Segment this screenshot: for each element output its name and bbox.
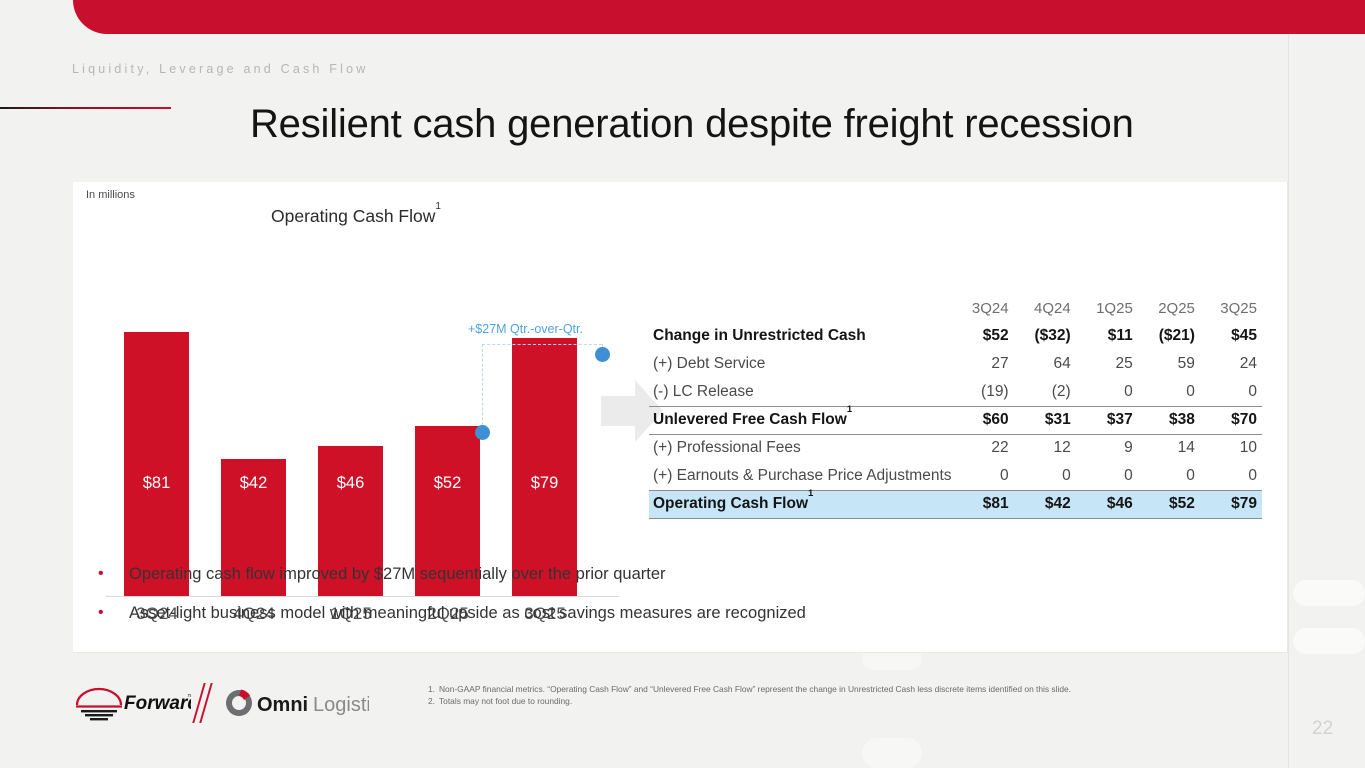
forward-logo-icon: Forward ™ — [73, 683, 191, 723]
table-body: Change in Unrestricted Cash$52($32)$11($… — [649, 322, 1262, 518]
table-row-label: (+) Professional Fees — [649, 434, 952, 462]
table-cell: 24 — [1200, 350, 1262, 378]
bar-value-label: $46 — [318, 474, 383, 493]
table-cell: 59 — [1138, 350, 1200, 378]
list-item: • Asset-light business model with meanin… — [98, 604, 1098, 623]
cash-flow-table: 3Q24 4Q24 1Q25 2Q25 3Q25 Change in Unres… — [649, 294, 1262, 519]
watermark-shape — [1293, 628, 1365, 654]
table-cell: $52 — [952, 322, 1014, 350]
callout-label: +$27M Qtr.-over-Qtr. — [468, 322, 583, 336]
table-col-0: 3Q24 — [952, 294, 1014, 322]
footnote-text: Totals may not foot due to rounding. — [439, 695, 572, 707]
footnote-row: 1. Non-GAAP financial metrics. “Operatin… — [428, 683, 1218, 695]
right-vertical-rule — [1288, 0, 1289, 768]
content-card: In millions Operating Cash Flow1 $81$42$… — [73, 182, 1288, 653]
table-col-1: 4Q24 — [1014, 294, 1076, 322]
table-cell: 0 — [1076, 378, 1138, 406]
bar-value-label: $42 — [221, 474, 286, 493]
table-cell: $79 — [1200, 490, 1262, 518]
svg-text:Omni: Omni — [257, 694, 308, 716]
footnotes: 1. Non-GAAP financial metrics. “Operatin… — [428, 683, 1218, 707]
bar-value-label: $81 — [124, 474, 189, 493]
table-col-4: 3Q25 — [1200, 294, 1262, 322]
table-cell: 0 — [1138, 378, 1200, 406]
callout-dot-2q25 — [475, 425, 490, 440]
row-footnote-marker: 1 — [847, 404, 852, 415]
page-title: Resilient cash generation despite freigh… — [250, 102, 1250, 147]
callout-bracket-left — [482, 344, 483, 430]
table-cell: 25 — [1076, 350, 1138, 378]
table-cell: $52 — [1138, 490, 1200, 518]
table-cell: $11 — [1076, 322, 1138, 350]
table-cell: 14 — [1138, 434, 1200, 462]
table-cell: 0 — [952, 462, 1014, 490]
table-cell: $60 — [952, 406, 1014, 434]
row-footnote-marker: 1 — [808, 488, 813, 499]
units-note: In millions — [86, 189, 135, 201]
footnote-number: 1. — [428, 683, 439, 695]
section-eyebrow: Liquidity, Leverage and Cash Flow — [72, 62, 368, 76]
table-row-label: Unlevered Free Cash Flow1 — [649, 406, 952, 434]
slide-canvas: Liquidity, Leverage and Cash Flow Resili… — [0, 0, 1365, 768]
table-cell: $37 — [1076, 406, 1138, 434]
table-row: (+) Debt Service2764255924 — [649, 350, 1262, 378]
table-cell: $38 — [1138, 406, 1200, 434]
bullet-text: Operating cash flow improved by $27M seq… — [129, 565, 666, 583]
table-col-3: 2Q25 — [1138, 294, 1200, 322]
bullet-marker-icon: • — [98, 604, 104, 622]
table-row: Change in Unrestricted Cash$52($32)$11($… — [649, 322, 1262, 350]
table-cell: (2) — [1014, 378, 1076, 406]
table-row-label: (+) Debt Service — [649, 350, 952, 378]
table-cell: $45 — [1200, 322, 1262, 350]
bar-3q25: $79 — [512, 338, 577, 596]
table-cell: $31 — [1014, 406, 1076, 434]
table-cell: 0 — [1014, 462, 1076, 490]
table-cell: 0 — [1076, 462, 1138, 490]
accent-rule — [0, 107, 171, 109]
table-cell: $70 — [1200, 406, 1262, 434]
table-cell: $81 — [952, 490, 1014, 518]
bullet-text: Asset-light business model with meaningf… — [129, 604, 806, 622]
footnote-text: Non-GAAP financial metrics. “Operating C… — [439, 683, 1071, 695]
table-row: (+) Professional Fees221291410 — [649, 434, 1262, 462]
bullet-list: • Operating cash flow improved by $27M s… — [98, 565, 1098, 643]
table-header-blank — [649, 294, 952, 322]
chart-title-text: Operating Cash Flow — [271, 206, 435, 226]
table-cell: ($21) — [1138, 322, 1200, 350]
bar-3q24: $81 — [124, 332, 189, 596]
page-number: 22 — [1312, 718, 1333, 740]
table-col-2: 1Q25 — [1076, 294, 1138, 322]
bullet-marker-icon: • — [98, 565, 104, 583]
table-cell: (19) — [952, 378, 1014, 406]
svg-text:Forward: Forward — [124, 693, 191, 714]
table-header-row: 3Q24 4Q24 1Q25 2Q25 3Q25 — [649, 294, 1262, 322]
top-red-banner — [73, 0, 1365, 34]
table-cell: 27 — [952, 350, 1014, 378]
table-cell: 0 — [1138, 462, 1200, 490]
table-cell: 9 — [1076, 434, 1138, 462]
table-row: (+) Earnouts & Purchase Price Adjustment… — [649, 462, 1262, 490]
list-item: • Operating cash flow improved by $27M s… — [98, 565, 1098, 584]
table-row-label: Change in Unrestricted Cash — [649, 322, 952, 350]
table-cell: 22 — [952, 434, 1014, 462]
table-row: Operating Cash Flow1$81$42$46$52$79 — [649, 490, 1262, 518]
bar-value-label: $52 — [415, 474, 480, 493]
footer-logos: Forward ™ Omni Logistics — [73, 682, 369, 724]
footnote-row: 2. Totals may not foot due to rounding. — [428, 695, 1218, 707]
table-cell: $46 — [1076, 490, 1138, 518]
watermark-shape — [1293, 580, 1365, 606]
callout-dot-3q25 — [595, 347, 610, 362]
table-cell: 10 — [1200, 434, 1262, 462]
chart-title: Operating Cash Flow1 — [271, 206, 441, 227]
callout-bracket-horizontal — [482, 344, 602, 345]
bar-value-label: $79 — [512, 474, 577, 493]
table-cell: 12 — [1014, 434, 1076, 462]
omni-logistics-logo-icon: Omni Logistics — [217, 686, 369, 720]
table-row-label: (+) Earnouts & Purchase Price Adjustment… — [649, 462, 952, 490]
chart-title-footnote-marker: 1 — [435, 201, 441, 212]
table-cell: 64 — [1014, 350, 1076, 378]
table-header: 3Q24 4Q24 1Q25 2Q25 3Q25 — [649, 294, 1262, 322]
svg-text:Logistics: Logistics — [313, 694, 369, 716]
footnote-number: 2. — [428, 695, 439, 707]
table-row-label: Operating Cash Flow1 — [649, 490, 952, 518]
watermark-shape — [862, 738, 922, 768]
table-cell: ($32) — [1014, 322, 1076, 350]
table-cell: 0 — [1200, 462, 1262, 490]
table-row-label: (-) LC Release — [649, 378, 952, 406]
table-row: (-) LC Release(19)(2)000 — [649, 378, 1262, 406]
table-cell: $42 — [1014, 490, 1076, 518]
table-row: Unlevered Free Cash Flow1$60$31$37$38$70 — [649, 406, 1262, 434]
table-cell: 0 — [1200, 378, 1262, 406]
logo-divider-icon — [191, 683, 217, 723]
